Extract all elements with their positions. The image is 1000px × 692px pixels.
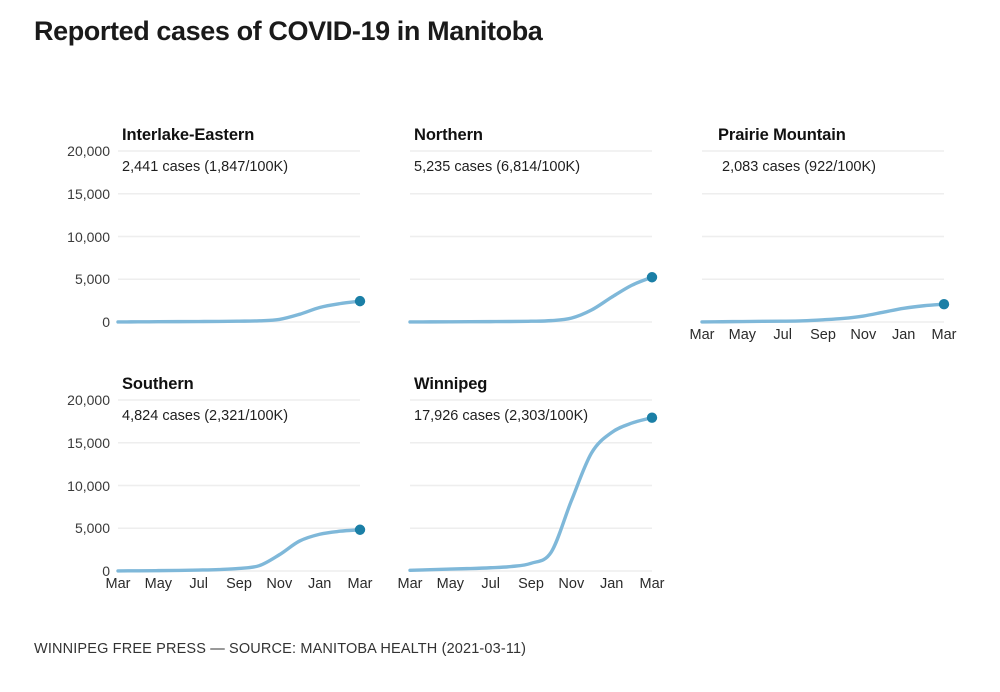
x-axis-tick-label: Sep bbox=[518, 576, 544, 592]
y-axis-tick-label: 20,000 bbox=[34, 143, 110, 159]
y-axis-tick-label: 15,000 bbox=[34, 435, 110, 451]
y-axis-tick-label: 10,000 bbox=[34, 478, 110, 494]
panel-winnipeg: Winnipeg17,926 cases (2,303/100K)MarMayJ… bbox=[0, 0, 1000, 692]
x-axis-tick-label: Mar bbox=[398, 576, 423, 592]
series-line bbox=[410, 418, 652, 571]
x-axis-tick-label: Mar bbox=[640, 576, 665, 592]
x-axis-tick-label: Nov bbox=[558, 576, 584, 592]
x-axis-tick-label: Jan bbox=[600, 576, 623, 592]
y-axis-tick-label: 0 bbox=[34, 314, 110, 330]
y-axis-tick-label: 5,000 bbox=[34, 271, 110, 287]
y-axis-tick-label: 10,000 bbox=[34, 229, 110, 245]
panel-title: Winnipeg bbox=[414, 375, 487, 394]
gridlines bbox=[410, 400, 652, 571]
x-axis-tick-label: Jul bbox=[481, 576, 500, 592]
y-axis-tick-label: 0 bbox=[34, 563, 110, 579]
plot-area bbox=[410, 400, 652, 571]
y-axis-tick-label: 20,000 bbox=[34, 392, 110, 408]
endpoint-dot bbox=[647, 413, 657, 423]
y-axis-tick-label: 5,000 bbox=[34, 520, 110, 536]
x-axis-tick-label: May bbox=[437, 576, 464, 592]
y-axis-tick-label: 15,000 bbox=[34, 186, 110, 202]
source-note: WINNIPEG FREE PRESS — SOURCE: MANITOBA H… bbox=[34, 641, 526, 657]
small-multiples-grid: Interlake-Eastern2,441 cases (1,847/100K… bbox=[0, 0, 1000, 692]
